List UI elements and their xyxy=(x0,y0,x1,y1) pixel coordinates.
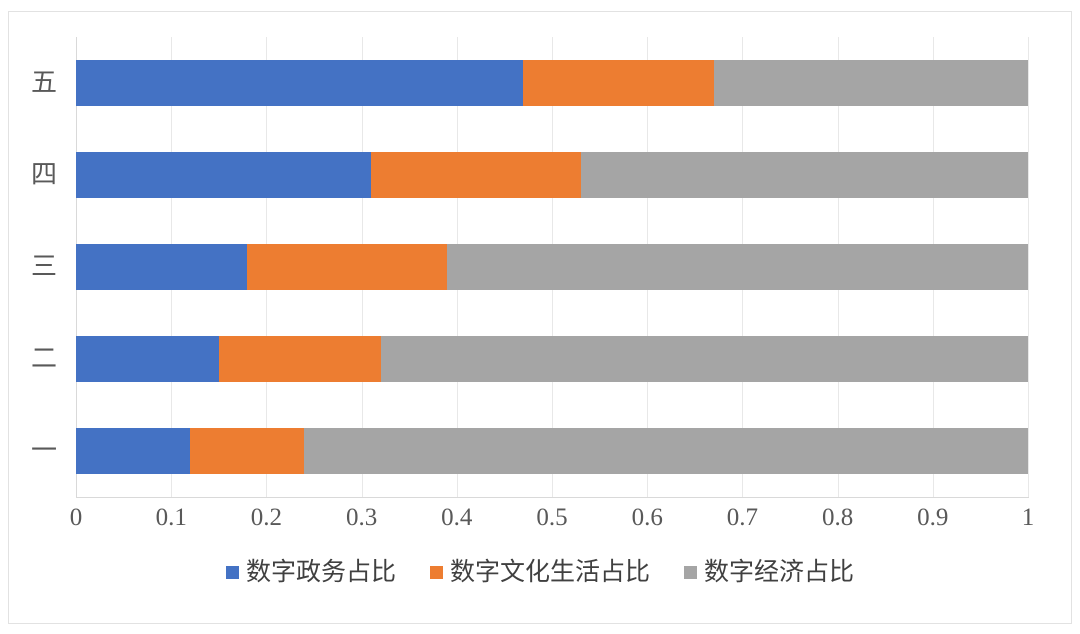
x-axis: 00.10.20.30.40.50.60.70.80.91 xyxy=(76,504,1028,544)
x-tick-label-0.9: 0.9 xyxy=(917,504,948,532)
x-tick-label-0: 0 xyxy=(70,504,83,532)
legend-label-series1: 数字政务占比 xyxy=(246,560,396,585)
bar-segment-五-series2[interactable] xyxy=(523,60,713,106)
y-axis: 一二三四五 xyxy=(9,37,69,497)
bar-segment-四-series2[interactable] xyxy=(371,152,580,198)
plot-area xyxy=(76,37,1028,497)
bar-group-三[interactable] xyxy=(76,244,1028,290)
x-tick-label-0.2: 0.2 xyxy=(251,504,282,532)
bar-segment-四-series3[interactable] xyxy=(581,152,1028,198)
bar-segment-二-series3[interactable] xyxy=(381,336,1028,382)
bar-segment-二-series1[interactable] xyxy=(76,336,219,382)
legend-swatch-icon-series3 xyxy=(684,566,697,579)
legend-swatch-icon-series1 xyxy=(226,566,239,579)
gridline-1 xyxy=(1028,37,1029,497)
bar-segment-四-series1[interactable] xyxy=(76,152,371,198)
bar-group-四[interactable] xyxy=(76,152,1028,198)
bar-group-五[interactable] xyxy=(76,60,1028,106)
x-tick-label-0.4: 0.4 xyxy=(441,504,472,532)
legend-item-series1[interactable]: 数字政务占比 xyxy=(226,560,396,585)
chart-frame: 一二三四五 00.10.20.30.40.50.60.70.80.91 数字政务… xyxy=(8,11,1072,624)
x-tick-label-0.3: 0.3 xyxy=(346,504,377,532)
legend-label-series2: 数字文化生活占比 xyxy=(450,560,650,585)
legend-item-series3[interactable]: 数字经济占比 xyxy=(684,560,854,585)
y-tick-label-五: 五 xyxy=(31,70,57,96)
bar-segment-三-series3[interactable] xyxy=(447,244,1028,290)
bar-group-二[interactable] xyxy=(76,336,1028,382)
legend-swatch-icon-series2 xyxy=(430,566,443,579)
bar-segment-一-series1[interactable] xyxy=(76,428,190,474)
bar-segment-一-series3[interactable] xyxy=(304,428,1028,474)
x-tick-label-1: 1 xyxy=(1022,504,1035,532)
x-tick-label-0.8: 0.8 xyxy=(822,504,853,532)
bar-segment-三-series1[interactable] xyxy=(76,244,247,290)
legend-label-series3: 数字经济占比 xyxy=(704,560,854,585)
x-tick-label-0.5: 0.5 xyxy=(536,504,567,532)
y-tick-label-一: 一 xyxy=(31,438,57,464)
y-tick-label-二: 二 xyxy=(31,346,57,372)
chart-legend: 数字政务占比数字文化生活占比数字经济占比 xyxy=(9,560,1071,585)
bar-segment-三-series2[interactable] xyxy=(247,244,447,290)
bar-segment-五-series1[interactable] xyxy=(76,60,523,106)
y-tick-label-四: 四 xyxy=(31,162,57,188)
x-axis-line xyxy=(76,497,1029,498)
bar-segment-一-series2[interactable] xyxy=(190,428,304,474)
bar-segment-二-series2[interactable] xyxy=(219,336,381,382)
bar-segment-五-series3[interactable] xyxy=(714,60,1028,106)
bar-group-一[interactable] xyxy=(76,428,1028,474)
x-tick-label-0.7: 0.7 xyxy=(727,504,758,532)
legend-item-series2[interactable]: 数字文化生活占比 xyxy=(430,560,650,585)
y-tick-label-三: 三 xyxy=(31,254,57,280)
x-tick-label-0.6: 0.6 xyxy=(632,504,663,532)
x-tick-label-0.1: 0.1 xyxy=(156,504,187,532)
